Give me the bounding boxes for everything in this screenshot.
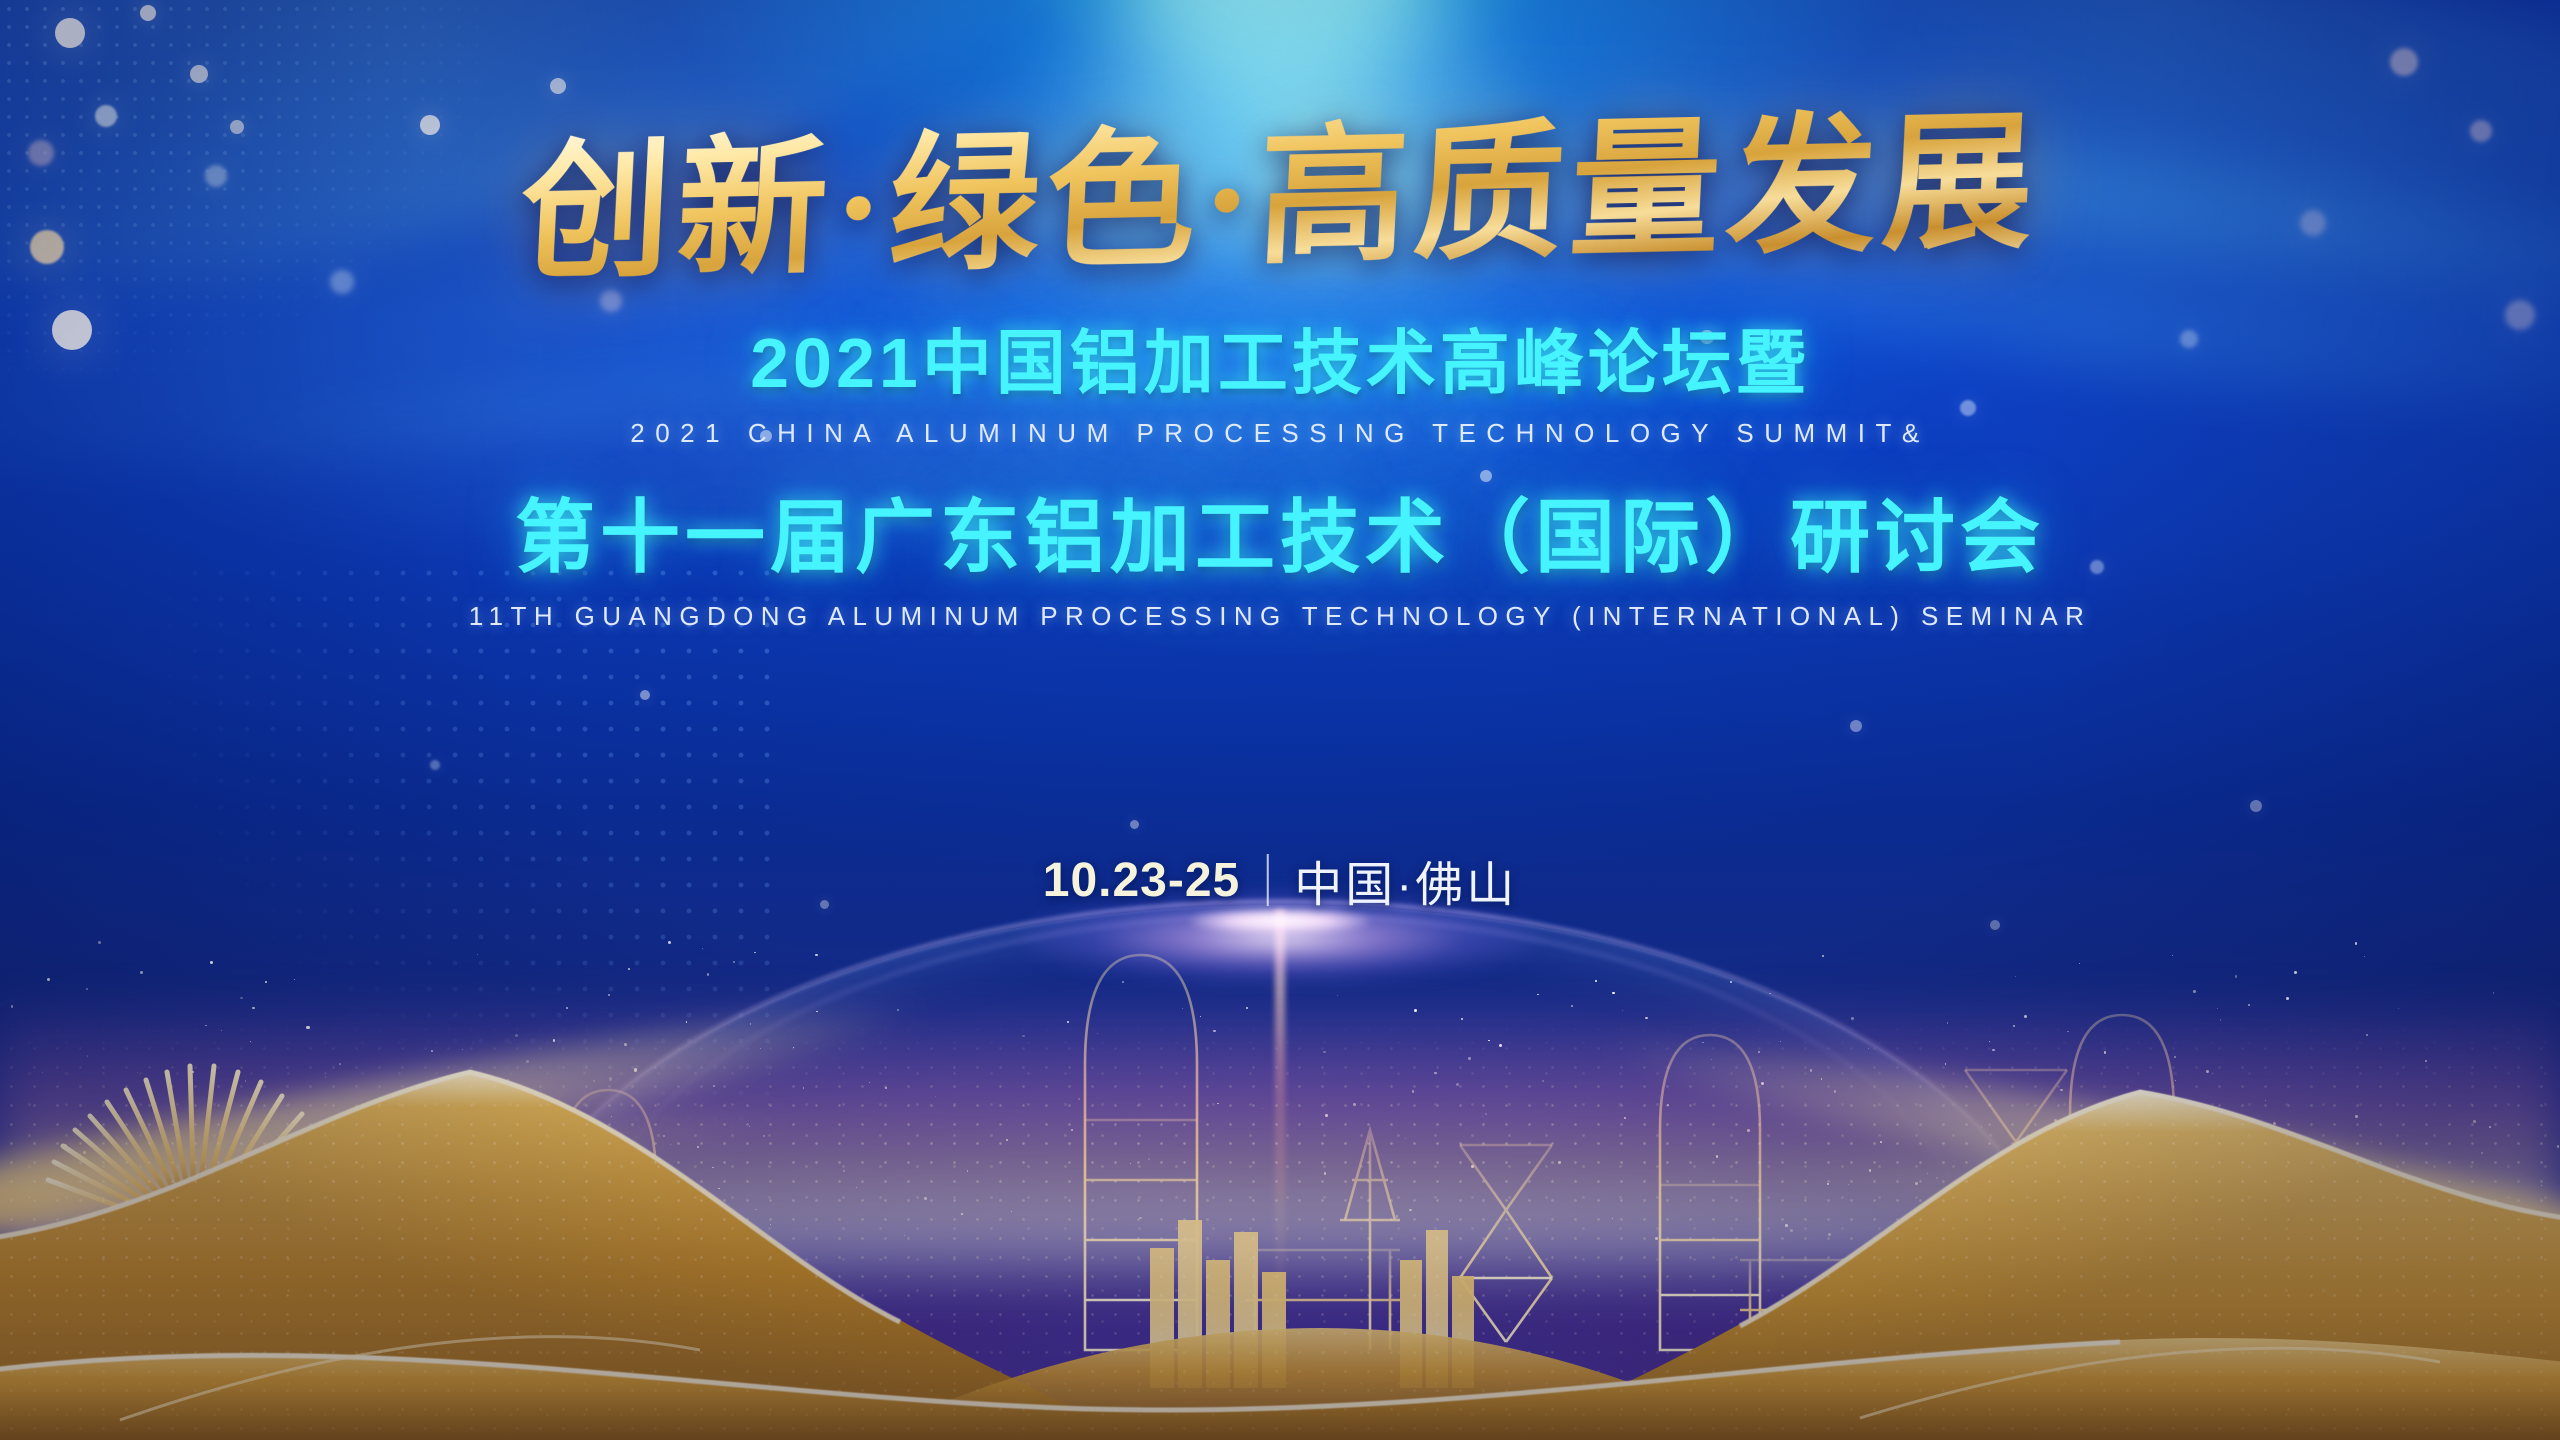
title-chinese-line-1: 2021中国铝加工技术高峰论坛暨 — [469, 307, 2092, 408]
calligraphy-slogan: 创新·绿色·高质量发展 — [517, 104, 2043, 295]
event-location: 中国·佛山 — [1294, 845, 1517, 915]
banner-content: 创新·绿色·高质量发展 2021中国铝加工技术高峰论坛暨 2021 CHINA … — [0, 0, 2560, 1440]
title-chinese-line-2: 第十一届广东铝加工技术（国际）研讨会 — [469, 473, 2092, 589]
conference-banner: 创新·绿色·高质量发展 2021中国铝加工技术高峰论坛暨 2021 CHINA … — [0, 0, 2560, 1440]
event-meta: 10.23-25 中国·佛山 — [1043, 845, 1518, 915]
meta-divider-icon — [1266, 854, 1268, 906]
title-block: 2021中国铝加工技术高峰论坛暨 2021 CHINA ALUMINUM PRO… — [469, 307, 2092, 632]
title-english-line-2: 11TH GUANGDONG ALUMINUM PROCESSING TECHN… — [469, 601, 2092, 632]
event-date: 10.23-25 — [1043, 853, 1241, 908]
title-english-line-1: 2021 CHINA ALUMINUM PROCESSING TECHNOLOG… — [469, 418, 2092, 449]
